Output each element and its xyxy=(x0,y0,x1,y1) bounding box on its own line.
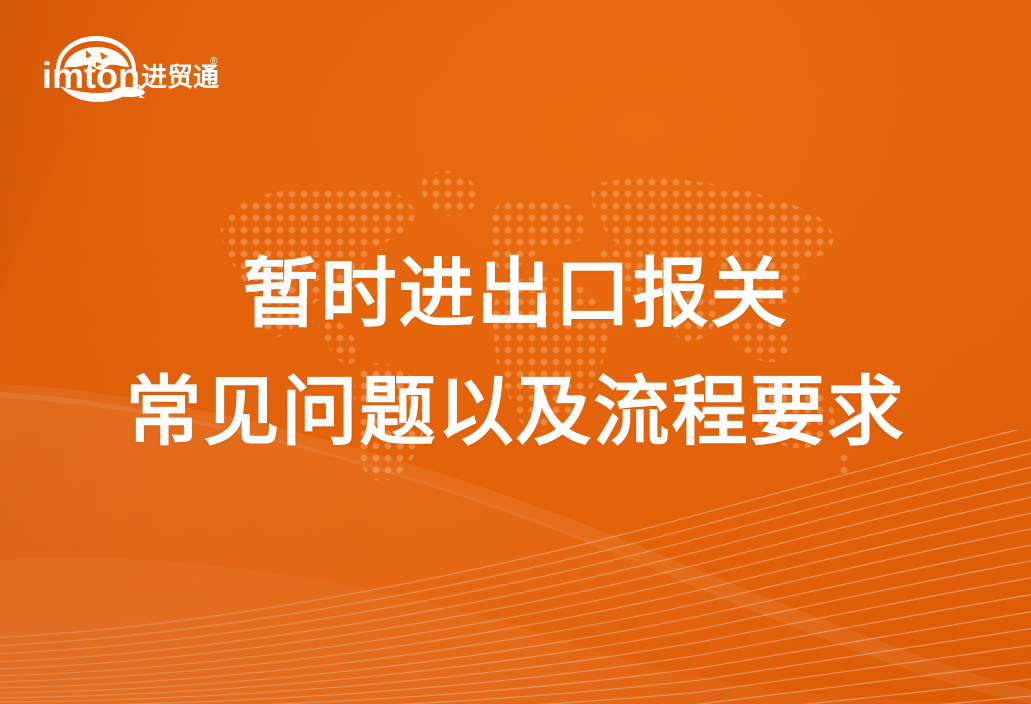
logo-wordmark: imton xyxy=(42,55,140,96)
title-line-2: 常见问题以及流程要求 xyxy=(0,354,1031,472)
brand-logo[interactable]: imton 进贸通 ® xyxy=(40,26,220,106)
page-title: 暂时进出口报关 常见问题以及流程要求 xyxy=(0,236,1031,472)
poster-canvas: imton 进贸通 ® 暂时进出口报关 常见问题以及流程要求 xyxy=(0,0,1031,704)
trademark-symbol: ® xyxy=(210,56,218,67)
logo-chinese-name: 进贸通 xyxy=(141,62,219,92)
title-line-1: 暂时进出口报关 xyxy=(0,236,1031,354)
